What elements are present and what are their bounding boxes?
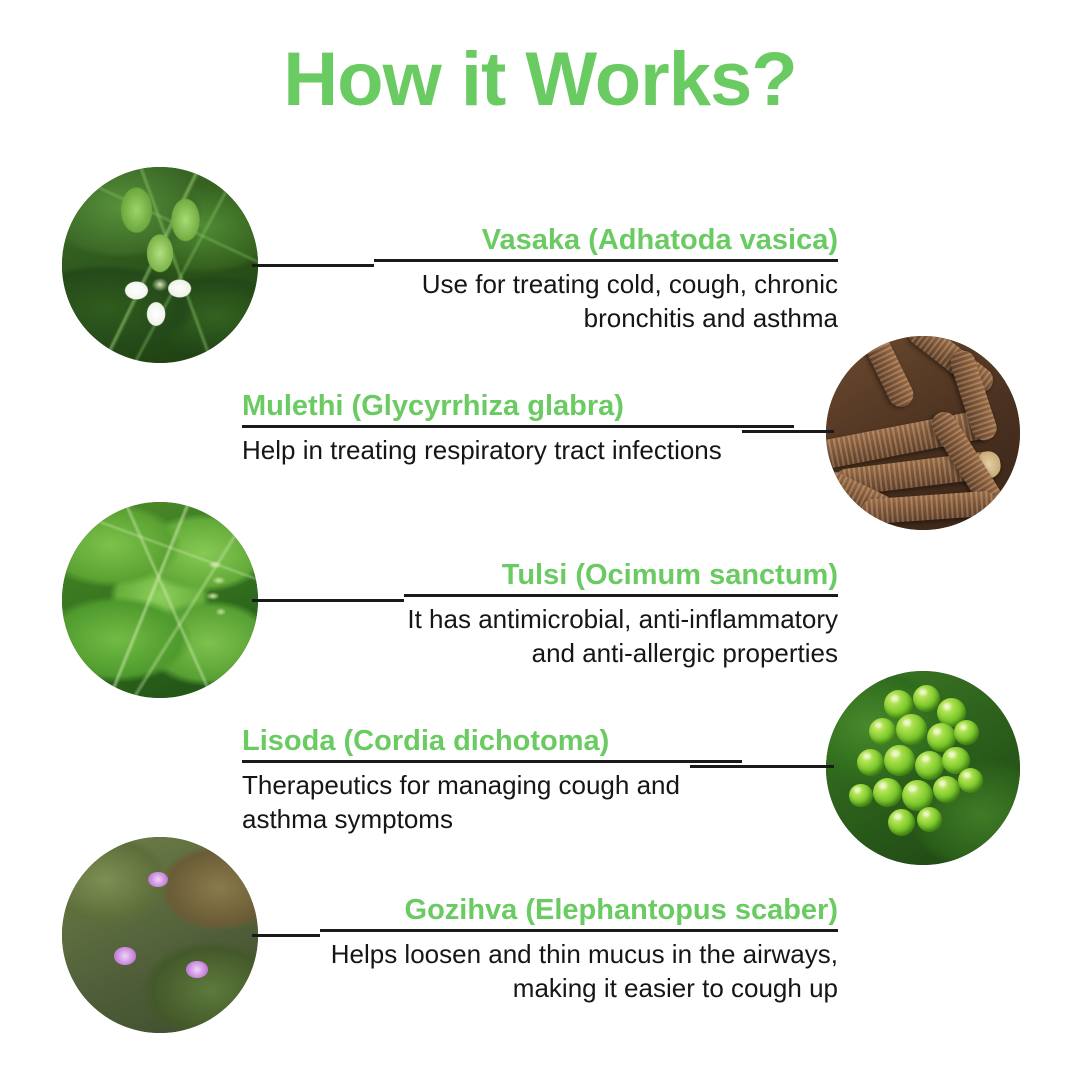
- entry-name-lisoda: Lisoda (Cordia dichotoma): [242, 725, 742, 758]
- entry-rule-tulsi: [404, 594, 838, 597]
- lisoda-berries-photo: [826, 671, 1020, 865]
- entry-rule-mulethi: [242, 425, 794, 428]
- entry-tulsi: Tulsi (Ocimum sanctum) It has antimicrob…: [404, 559, 838, 670]
- entry-vasaka: Vasaka (Adhatoda vasica) Use for treatin…: [374, 224, 838, 335]
- entry-name-vasaka: Vasaka (Adhatoda vasica): [374, 224, 838, 257]
- entry-rule-vasaka: [374, 259, 838, 262]
- entry-name-gozihva: Gozihva (Elephantopus scaber): [320, 894, 838, 927]
- entry-description-vasaka: Use for treating cold, cough, chronic br…: [374, 268, 838, 335]
- entry-lisoda: Lisoda (Cordia dichotoma) Therapeutics f…: [242, 725, 742, 836]
- connector-line-tulsi: [252, 599, 404, 602]
- entry-name-tulsi: Tulsi (Ocimum sanctum): [404, 559, 838, 592]
- entry-name-mulethi: Mulethi (Glycyrrhiza glabra): [242, 390, 794, 423]
- entry-rule-lisoda: [242, 760, 742, 763]
- entry-mulethi: Mulethi (Glycyrrhiza glabra) Help in tre…: [242, 390, 794, 468]
- gozihva-flower-photo: [62, 837, 258, 1033]
- entry-gozihva: Gozihva (Elephantopus scaber) Helps loos…: [320, 894, 838, 1005]
- entry-description-tulsi: It has antimicrobial, anti-inflammatory …: [404, 603, 838, 670]
- connector-line-gozihva: [252, 934, 320, 937]
- entry-description-lisoda: Therapeutics for managing cough and asth…: [242, 769, 742, 836]
- mulethi-licorice-root-photo: [826, 336, 1020, 530]
- gozihva-bloom: [113, 849, 203, 916]
- entry-description-gozihva: Helps loosen and thin mucus in the airwa…: [320, 938, 838, 1005]
- infographic-page: How it Works? Vasaka (Adhatoda vasica) U…: [0, 0, 1080, 1080]
- connector-line-vasaka: [252, 264, 374, 267]
- vasaka-plant-photo: [62, 167, 258, 363]
- tulsi-plant-photo: [62, 502, 258, 698]
- gozihva-bloom: [148, 935, 246, 1009]
- page-title: How it Works?: [0, 38, 1080, 122]
- entry-description-mulethi: Help in treating respiratory tract infec…: [242, 434, 794, 467]
- entry-rule-gozihva: [320, 929, 838, 932]
